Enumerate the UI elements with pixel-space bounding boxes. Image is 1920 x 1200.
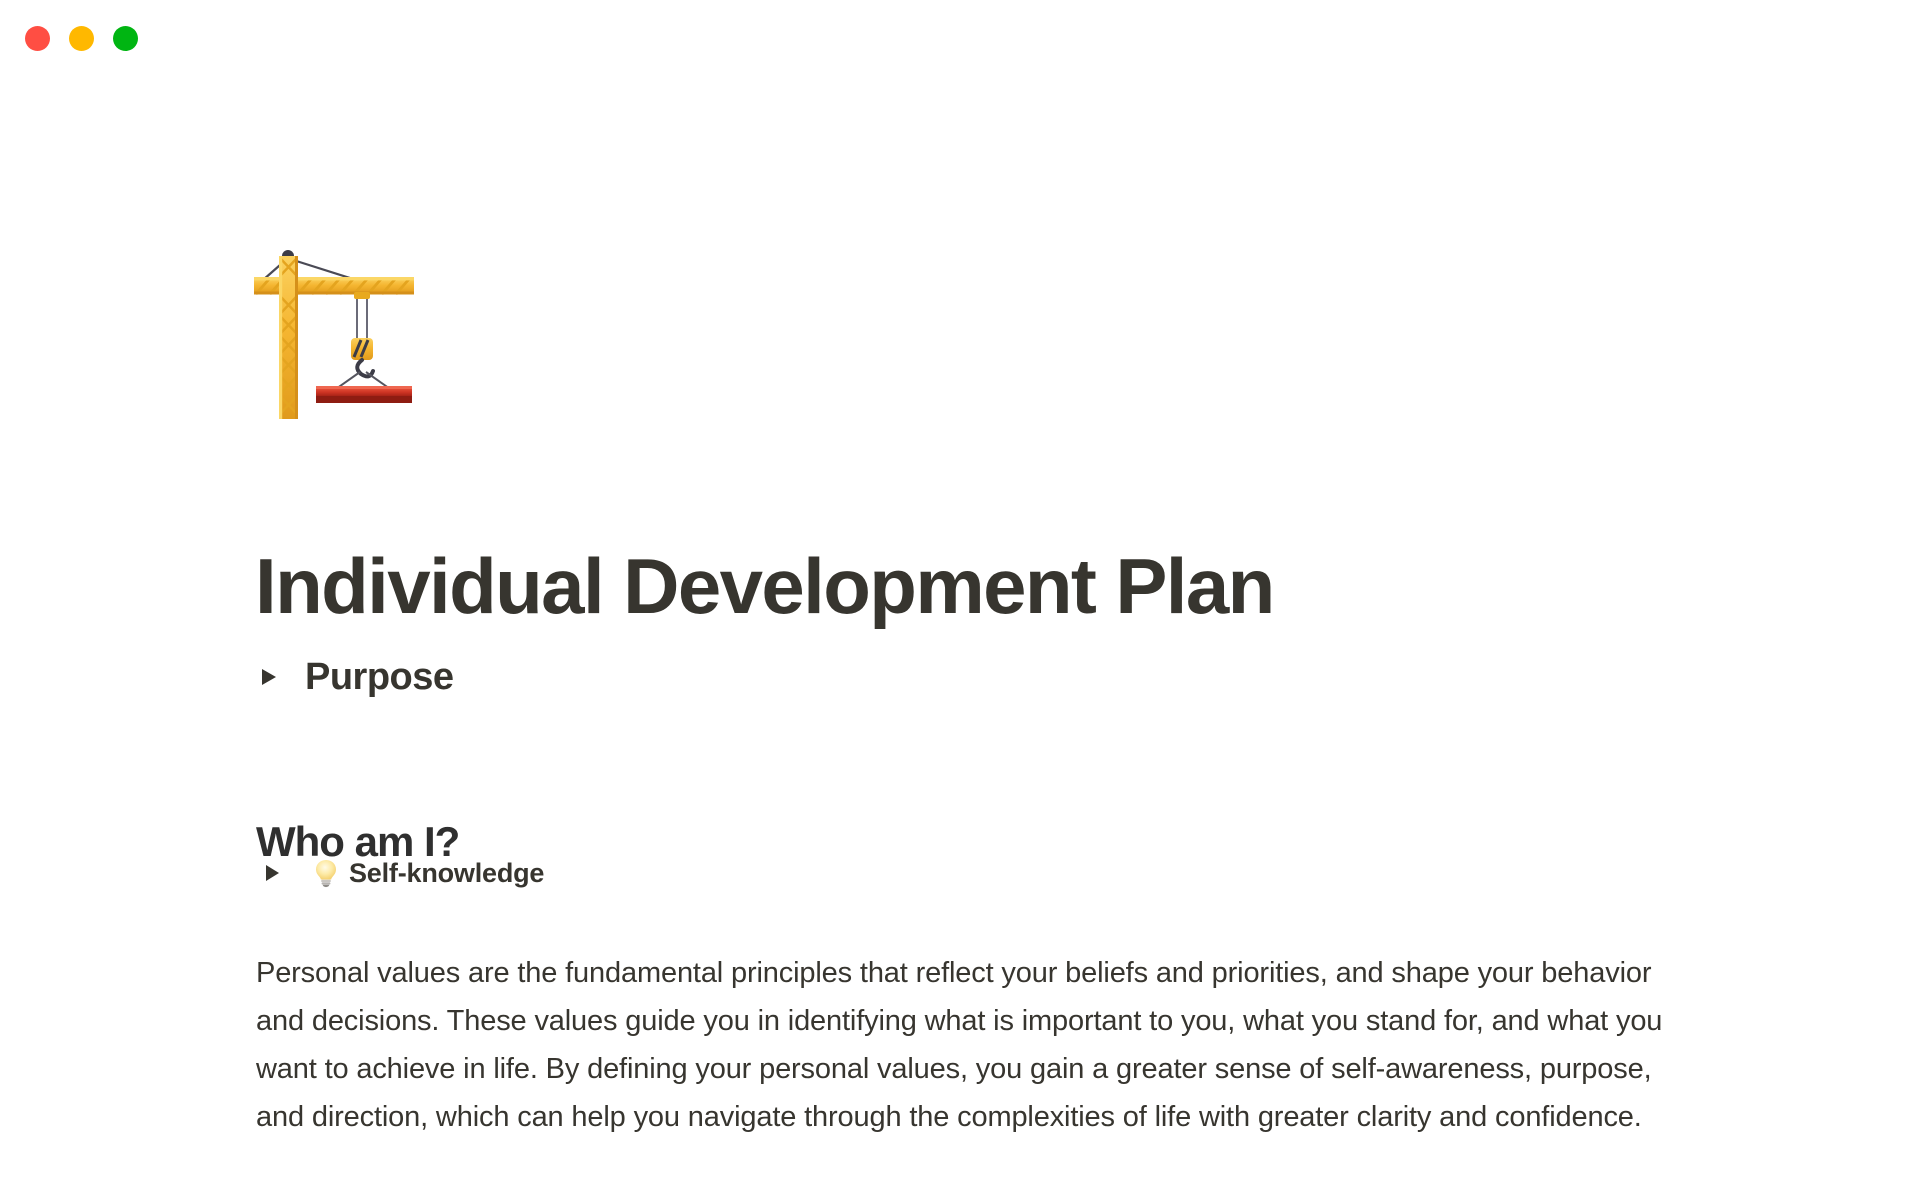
paragraph-personal-values[interactable]: Personal values are the fundamental prin… <box>256 949 1688 1141</box>
close-window-button[interactable] <box>25 26 50 51</box>
toggle-block-self-knowledge[interactable]: Self-knowledge <box>262 855 544 891</box>
building-construction-icon[interactable] <box>248 244 423 419</box>
triangle-right-icon[interactable] <box>262 858 288 888</box>
toggle-label-purpose: Purpose <box>305 653 454 701</box>
lightbulb-icon <box>313 858 339 888</box>
minimize-window-button[interactable] <box>69 26 94 51</box>
window-traffic-lights <box>25 26 138 51</box>
maximize-window-button[interactable] <box>113 26 138 51</box>
window-titlebar <box>0 0 1920 76</box>
page-title[interactable]: Individual Development Plan <box>255 538 1274 634</box>
toggle-block-purpose[interactable]: Purpose <box>258 653 454 701</box>
triangle-right-icon[interactable] <box>258 662 284 692</box>
toggle-label-self-knowledge: Self-knowledge <box>349 855 544 891</box>
